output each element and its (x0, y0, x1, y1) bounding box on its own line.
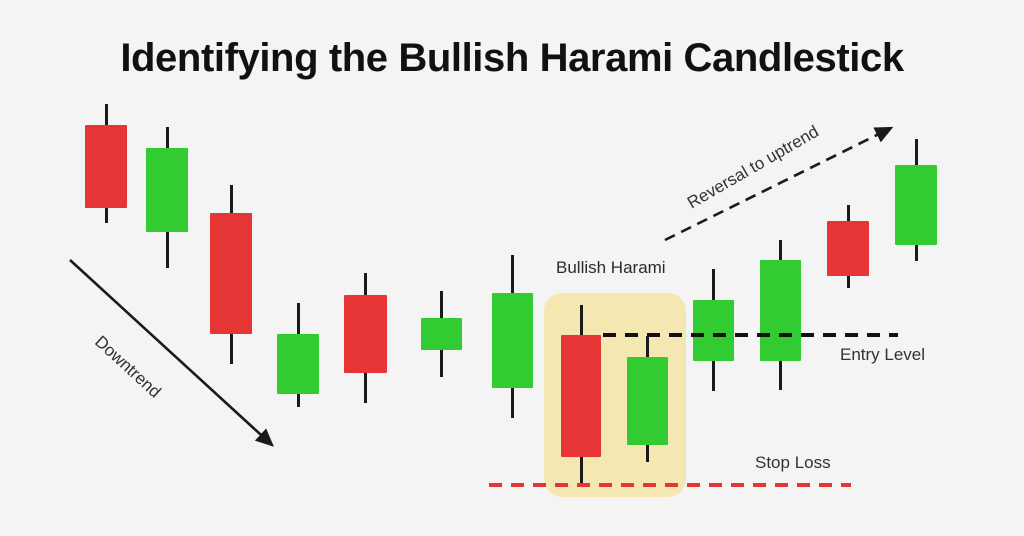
label-bullish-harami: Bullish Harami (556, 258, 666, 278)
label-entry-level: Entry Level (840, 345, 925, 365)
annotation-overlay (0, 0, 1024, 536)
label-stop-loss: Stop Loss (755, 453, 831, 473)
candlestick-diagram: Identifying the Bullish Harami Candlesti… (0, 0, 1024, 536)
